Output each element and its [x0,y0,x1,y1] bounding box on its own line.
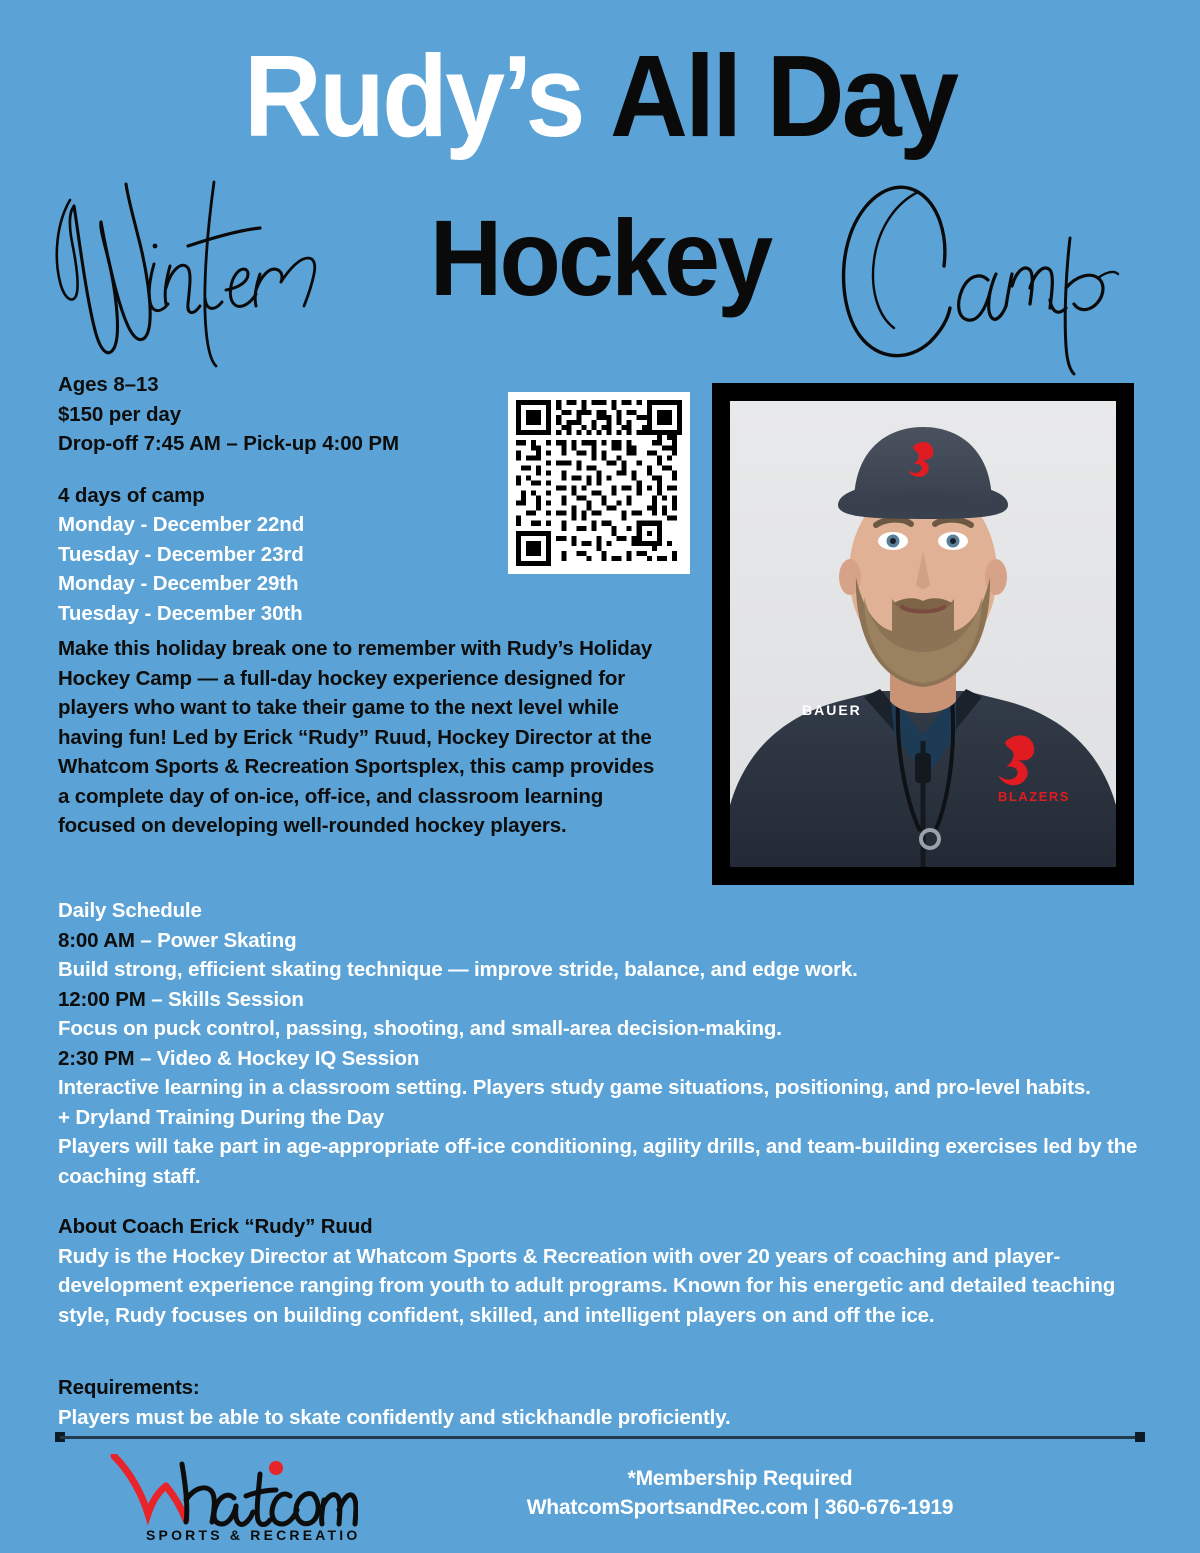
schedule-item-3-desc: Interactive learning in a classroom sett… [58,1073,1158,1103]
coach-portrait-illustration: BAUER BLAZERS [730,401,1116,867]
daily-schedule-block: Daily Schedule 8:00 AM – Power Skating B… [58,896,1158,1191]
title-word-allday: All Day [610,31,956,161]
qr-code-icon [516,400,682,566]
footer-contact-line[interactable]: WhatcomSportsandRec.com | 360-676-1919 [400,1493,1080,1522]
requirements-block: Requirements: Players must be able to sk… [58,1373,1153,1432]
divider-cap-right [1135,1432,1145,1442]
camp-info-block: Ages 8–13 $150 per day Drop-off 7:45 AM … [58,370,528,628]
schedule-item-1-time: 8:00 AM [58,929,135,952]
schedule-item-4-desc: Players will take part in age-appropriat… [58,1132,1158,1191]
schedule-item-1-title: 8:00 AM – Power Skating [58,926,1158,956]
schedule-item-4-title: + Dryland Training During the Day [58,1103,1158,1133]
schedule-item-1-label: – Power Skating [135,929,297,952]
schedule-item-3-time: 2:30 PM [58,1047,134,1070]
title-script-winter [42,178,372,368]
info-spacer [58,459,528,481]
requirements-heading: Requirements: [58,1373,1153,1403]
flyer-title-block: Rudy’s All Day Hockey [0,0,1200,360]
info-date-1: Monday - December 22nd [58,510,528,540]
schedule-heading: Daily Schedule [58,896,1158,926]
whatcom-logo[interactable]: SPORTS & RECREATION [108,1454,358,1544]
about-coach-body: Rudy is the Hockey Director at Whatcom S… [58,1242,1153,1331]
info-date-4: Tuesday - December 30th [58,599,528,629]
title-line-2: Hockey [0,190,1200,360]
footer-membership-note: *Membership Required [400,1464,1080,1493]
title-script-camp [838,176,1158,376]
coach-photo: BAUER BLAZERS [712,383,1134,885]
info-ages: Ages 8–13 [58,370,528,400]
whatcom-logo-icon: SPORTS & RECREATION [108,1454,358,1544]
divider-bar [60,1436,1140,1439]
requirements-body: Players must be able to skate confidentl… [58,1403,1153,1433]
info-price: $150 per day [58,400,528,430]
schedule-item-2-time: 12:00 PM [58,988,146,1011]
title-line-1: Rudy’s All Day [42,38,1158,154]
schedule-item-1-desc: Build strong, efficient skating techniqu… [58,955,1158,985]
about-coach-block: About Coach Erick “Rudy” Ruud Rudy is th… [58,1212,1153,1330]
info-date-3: Monday - December 29th [58,569,528,599]
footer-contact-block: *Membership Required WhatcomSportsandRec… [400,1464,1080,1522]
jacket-brand-text: BAUER [802,702,862,718]
title-word-rudys: Rudy’s [244,31,583,161]
svg-text:BLAZERS: BLAZERS [998,789,1070,804]
flyer-footer: SPORTS & RECREATION *Membership Required… [0,1448,1200,1553]
coach-photo-image: BAUER BLAZERS [730,401,1116,867]
schedule-item-3-title: 2:30 PM – Video & Hockey IQ Session [58,1044,1158,1074]
intro-paragraph: Make this holiday break one to remember … [58,634,658,841]
footer-divider [55,1432,1145,1442]
info-days-heading: 4 days of camp [58,481,528,511]
schedule-item-3-label: – Video & Hockey IQ Session [134,1047,419,1070]
info-date-2: Tuesday - December 23rd [58,540,528,570]
about-coach-heading: About Coach Erick “Rudy” Ruud [58,1212,1153,1242]
whatcom-logo-subtitle: SPORTS & RECREATION [146,1527,358,1543]
schedule-item-2-label: – Skills Session [146,988,304,1011]
qr-code[interactable] [508,392,690,574]
info-hours: Drop-off 7:45 AM – Pick-up 4:00 PM [58,429,528,459]
schedule-item-2-title: 12:00 PM – Skills Session [58,985,1158,1015]
schedule-item-2-desc: Focus on puck control, passing, shooting… [58,1014,1158,1044]
